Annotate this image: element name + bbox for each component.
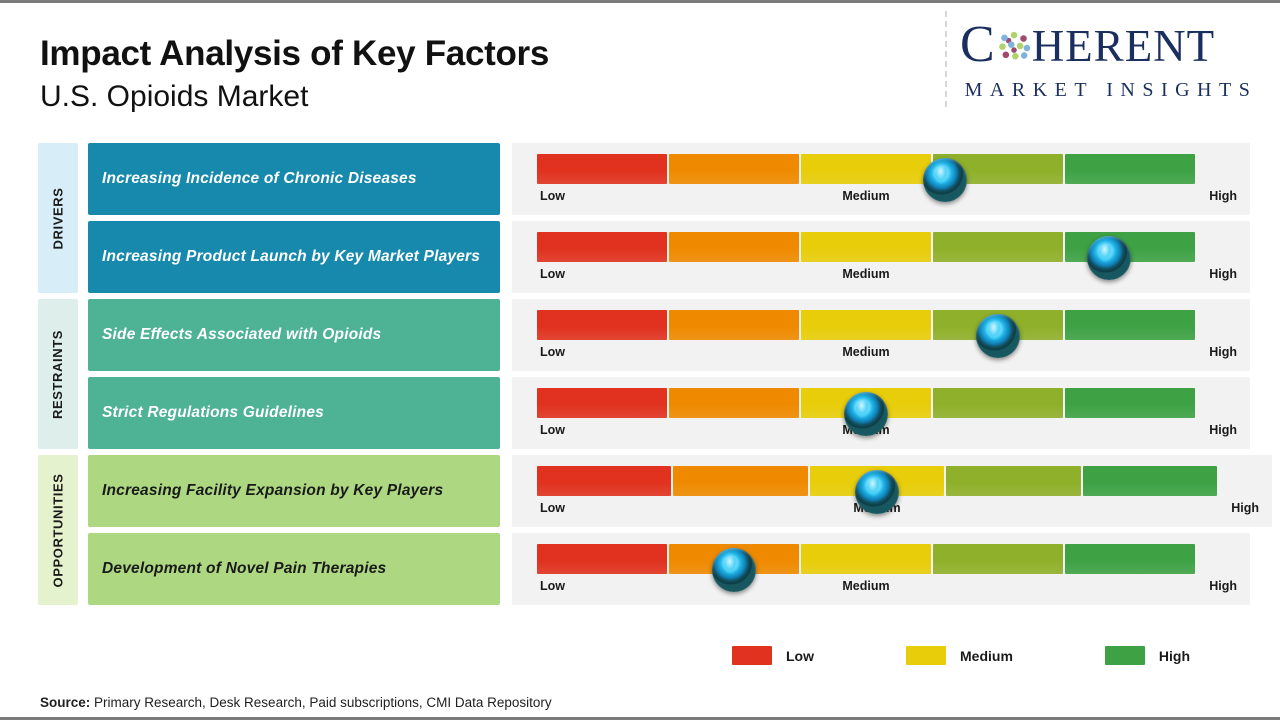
globe-icon bbox=[997, 29, 1031, 63]
slide-canvas: Impact Analysis of Key Factors U.S. Opio… bbox=[0, 0, 1280, 720]
logo-letter-c: C bbox=[960, 23, 996, 67]
gauge-segment-5 bbox=[1083, 466, 1217, 496]
logo-wordmark: C HERENT bbox=[960, 23, 1262, 73]
gauge-segment-2 bbox=[669, 310, 799, 340]
factor-label-text: Side Effects Associated with Opioids bbox=[102, 325, 381, 345]
logo-tagline: MARKET INSIGHTS bbox=[960, 79, 1262, 102]
scale-label-low: Low bbox=[540, 423, 565, 437]
source-text: Primary Research, Desk Research, Paid su… bbox=[90, 695, 551, 710]
legend-item-low: Low bbox=[732, 646, 814, 665]
factor-row: Side Effects Associated with OpioidsLowM… bbox=[38, 299, 1280, 371]
gauge-segment-5 bbox=[1065, 388, 1195, 418]
gauge-segment-1 bbox=[537, 232, 667, 262]
impact-gauge: LowMediumHigh bbox=[512, 143, 1250, 215]
gauge-segment-2 bbox=[669, 154, 799, 184]
factor-row: Increasing Facility Expansion by Key Pla… bbox=[38, 455, 1280, 527]
factor-row: Increasing Product Launch by Key Market … bbox=[38, 221, 1280, 293]
legend-label: Low bbox=[786, 648, 814, 664]
factor-label-text: Increasing Product Launch by Key Market … bbox=[102, 247, 480, 267]
gauge-segment-5 bbox=[1065, 154, 1195, 184]
gauge-segment-5 bbox=[1065, 310, 1195, 340]
gauge-track bbox=[537, 154, 1195, 184]
gauge-segment-1 bbox=[537, 466, 671, 496]
gauge-track bbox=[537, 232, 1195, 262]
gauge-segment-2 bbox=[669, 388, 799, 418]
gauge-segment-3 bbox=[801, 310, 931, 340]
scale-label-high: High bbox=[1209, 189, 1237, 203]
logo-letters-herent: HERENT bbox=[1032, 23, 1215, 69]
factor-label-box[interactable]: Development of Novel Pain Therapies bbox=[88, 533, 500, 605]
factor-row: Increasing Incidence of Chronic Diseases… bbox=[38, 143, 1280, 215]
scale-label-medium: Medium bbox=[842, 579, 889, 593]
gauge-marker[interactable] bbox=[923, 158, 967, 202]
legend-swatch bbox=[906, 646, 946, 665]
factor-row: Development of Novel Pain TherapiesLowMe… bbox=[38, 533, 1280, 605]
legend-swatch bbox=[732, 646, 772, 665]
scale-label-high: High bbox=[1209, 267, 1237, 281]
scale-label-medium: Medium bbox=[842, 345, 889, 359]
legend-swatch bbox=[1105, 646, 1145, 665]
gauge-segment-1 bbox=[537, 388, 667, 418]
impact-gauge: LowMediumHigh bbox=[512, 533, 1250, 605]
gauge-track bbox=[537, 388, 1195, 418]
coherent-market-insights-logo: C HERENT MARKET INSIGHTS bbox=[960, 23, 1262, 105]
impact-gauge: LowMediumHigh bbox=[512, 299, 1250, 371]
factor-label-box[interactable]: Increasing Product Launch by Key Market … bbox=[88, 221, 500, 293]
scale-label-medium: Medium bbox=[842, 189, 889, 203]
factor-group-opportunities: OPPORTUNITIESIncreasing Facility Expansi… bbox=[0, 455, 1280, 605]
impact-gauge: LowMediumHigh bbox=[512, 377, 1250, 449]
factor-label-text: Strict Regulations Guidelines bbox=[102, 403, 324, 423]
factor-label-box[interactable]: Side Effects Associated with Opioids bbox=[88, 299, 500, 371]
gauge-segment-5 bbox=[1065, 544, 1195, 574]
gauge-segment-3 bbox=[801, 232, 931, 262]
gauge-track bbox=[537, 310, 1195, 340]
legend-label: Medium bbox=[960, 648, 1013, 664]
factor-row: Strict Regulations GuidelinesLowMediumHi… bbox=[38, 377, 1280, 449]
scale-label-low: Low bbox=[540, 345, 565, 359]
gauge-track bbox=[537, 544, 1195, 574]
scale-label-low: Low bbox=[540, 579, 565, 593]
scale-label-medium: Medium bbox=[842, 267, 889, 281]
gauge-segment-3 bbox=[801, 544, 931, 574]
gauge-segment-1 bbox=[537, 310, 667, 340]
group-rows: Side Effects Associated with OpioidsLowM… bbox=[38, 299, 1280, 449]
scale-label-high: High bbox=[1209, 345, 1237, 359]
source-label: Source: bbox=[40, 695, 90, 710]
legend-item-high: High bbox=[1105, 646, 1190, 665]
scale-label-high: High bbox=[1231, 501, 1259, 515]
gauge-segment-4 bbox=[933, 388, 1063, 418]
legend-label: High bbox=[1159, 648, 1190, 664]
gauge-segment-3 bbox=[801, 154, 931, 184]
header: Impact Analysis of Key Factors U.S. Opio… bbox=[0, 3, 1280, 135]
gauge-marker[interactable] bbox=[855, 470, 899, 514]
source-footer: Source: Primary Research, Desk Research,… bbox=[40, 695, 552, 710]
gauge-segment-2 bbox=[669, 232, 799, 262]
scale-label-high: High bbox=[1209, 423, 1237, 437]
gauge-scale-labels: LowMediumHigh bbox=[537, 189, 1195, 209]
impact-gauge: LowMediumHigh bbox=[512, 455, 1272, 527]
legend: LowMediumHigh bbox=[0, 646, 1280, 665]
factor-group-restraints: RESTRAINTSSide Effects Associated with O… bbox=[0, 299, 1280, 449]
scale-label-low: Low bbox=[540, 501, 565, 515]
gauge-segment-4 bbox=[933, 232, 1063, 262]
gauge-segment-2 bbox=[673, 466, 807, 496]
title-main: Impact Analysis of Key Factors bbox=[40, 33, 549, 74]
factor-label-text: Increasing Facility Expansion by Key Pla… bbox=[102, 481, 443, 501]
factor-label-text: Development of Novel Pain Therapies bbox=[102, 559, 386, 579]
gauge-track bbox=[537, 466, 1217, 496]
scale-label-high: High bbox=[1209, 579, 1237, 593]
scale-label-low: Low bbox=[540, 189, 565, 203]
group-rows: Increasing Incidence of Chronic Diseases… bbox=[38, 143, 1280, 293]
gauge-scale-labels: LowMediumHigh bbox=[537, 345, 1195, 365]
factor-label-text: Increasing Incidence of Chronic Diseases bbox=[102, 169, 417, 189]
factor-label-box[interactable]: Increasing Facility Expansion by Key Pla… bbox=[88, 455, 500, 527]
gauge-marker[interactable] bbox=[976, 314, 1020, 358]
scale-label-low: Low bbox=[540, 267, 565, 281]
title-subtitle: U.S. Opioids Market bbox=[40, 77, 549, 116]
legend-item-medium: Medium bbox=[906, 646, 1013, 665]
factor-group-drivers: DRIVERSIncreasing Incidence of Chronic D… bbox=[0, 143, 1280, 293]
impact-matrix: DRIVERSIncreasing Incidence of Chronic D… bbox=[0, 143, 1280, 611]
group-rows: Increasing Facility Expansion by Key Pla… bbox=[38, 455, 1280, 605]
gauge-scale-labels: LowMediumHigh bbox=[537, 579, 1195, 599]
impact-gauge: LowMediumHigh bbox=[512, 221, 1250, 293]
header-divider bbox=[945, 11, 947, 107]
gauge-segment-4 bbox=[933, 544, 1063, 574]
gauge-segment-1 bbox=[537, 544, 667, 574]
gauge-segment-4 bbox=[946, 466, 1080, 496]
page-title: Impact Analysis of Key Factors U.S. Opio… bbox=[40, 33, 549, 116]
gauge-segment-1 bbox=[537, 154, 667, 184]
factor-label-box[interactable]: Strict Regulations Guidelines bbox=[88, 377, 500, 449]
factor-label-box[interactable]: Increasing Incidence of Chronic Diseases bbox=[88, 143, 500, 215]
gauge-marker[interactable] bbox=[844, 392, 888, 436]
